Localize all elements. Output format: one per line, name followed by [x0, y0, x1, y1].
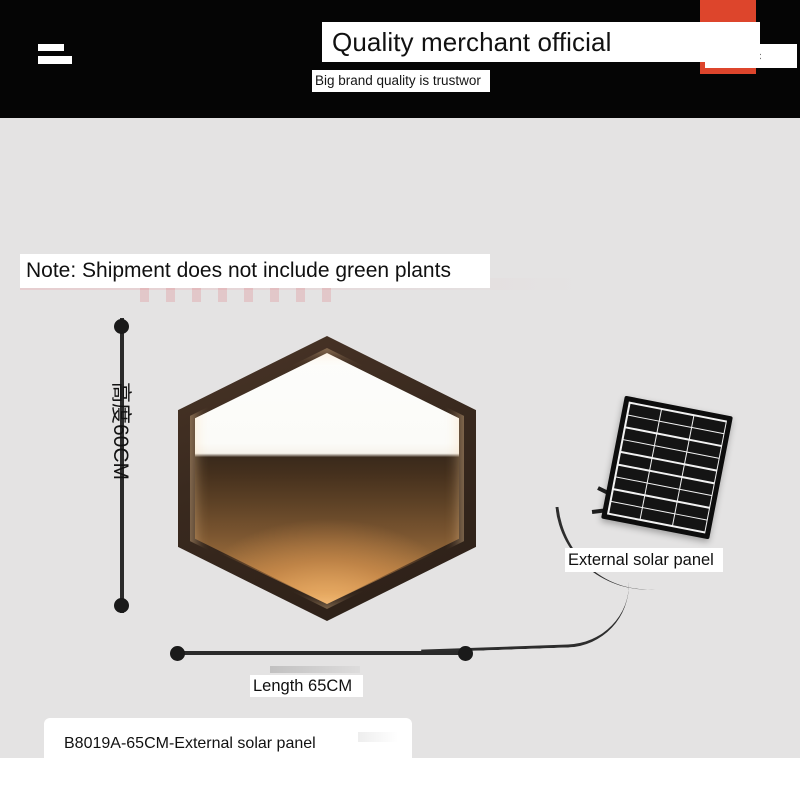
product-stage: Note: Shipment does not include green pl…	[0, 118, 800, 766]
shipment-note-box: Note: Shipment does not include green pl…	[20, 254, 490, 288]
header-title-box: Quality merchant official	[322, 22, 760, 62]
length-dim-right-dot	[458, 646, 473, 661]
page-subtitle: Big brand quality is trustwor	[312, 70, 490, 92]
solar-panel-image	[601, 396, 733, 540]
solar-panel-label: External solar panel	[565, 548, 723, 572]
power-cable	[419, 582, 631, 652]
shipment-note: Note: Shipment does not include green pl…	[20, 254, 490, 288]
ghost-length-text	[270, 666, 360, 673]
height-dim-bottom-dot	[114, 598, 129, 613]
height-dimension-label: 高度60CM	[107, 371, 133, 491]
length-dimension-line	[176, 651, 465, 655]
length-dimension-label: Length 65CM	[250, 675, 363, 697]
hamburger-icon[interactable]	[38, 44, 72, 66]
height-dim-top-dot	[114, 319, 129, 334]
product-detail-page: Authentic Quality merchant official Big …	[0, 0, 800, 800]
page-bottom-area	[0, 758, 800, 800]
page-title: Quality merchant official	[322, 22, 760, 62]
length-dim-left-dot	[170, 646, 185, 661]
page-header: Authentic Quality merchant official Big …	[0, 0, 800, 118]
header-subtitle-box: Big brand quality is trustwor	[312, 70, 490, 92]
hexagon-lamp-image	[178, 336, 476, 621]
ghost-red-text	[140, 286, 340, 302]
